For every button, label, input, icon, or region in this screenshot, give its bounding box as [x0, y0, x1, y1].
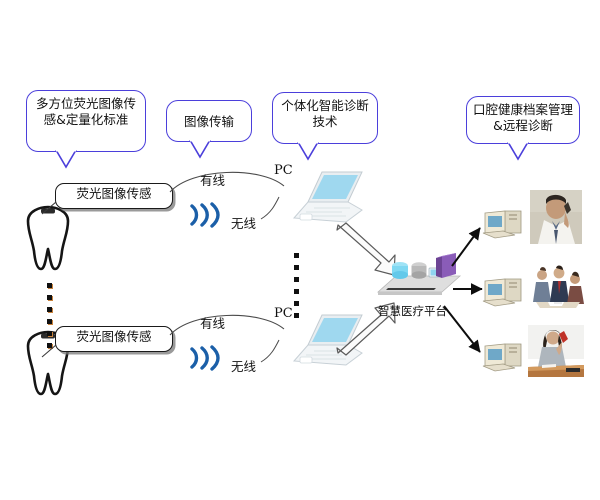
pc-top-label: PC [274, 163, 293, 178]
callout-tail-icon [507, 142, 529, 160]
link-top-wired-label: 有线 [200, 170, 225, 189]
link-top-wired-curve [168, 166, 288, 196]
endpoint-3-desktop-computer-icon[interactable] [481, 340, 525, 376]
diagram-canvas: 多方位荧光图像传感&定量化标准 图像传输 个体化智能诊断技术 口腔健康档案管理&… [0, 0, 600, 500]
endpoint-1-photo-doctor-on-phone [530, 190, 582, 244]
callout-diagnosis: 个体化智能诊断技术 [272, 92, 378, 144]
callout-sensing: 多方位荧光图像传感&定量化标准 [26, 90, 146, 152]
sensor-bottom-label: 荧光图像传感 [76, 329, 151, 344]
tooth-bottom-leader [40, 343, 70, 363]
endpoint-3-photo-operator-on-phone [528, 325, 584, 377]
link-bottom-wired-curve [168, 309, 288, 339]
pc-top-icon[interactable] [292, 166, 368, 228]
callout-sensing-label: 多方位荧光图像传感&定量化标准 [36, 96, 136, 127]
sensor-top-label: 荧光图像传感 [76, 186, 151, 201]
endpoint-2-photo-medical-team-meeting [528, 262, 586, 310]
tooth-top-leader [40, 200, 70, 220]
link-bottom-wireless-curve [215, 338, 285, 368]
endpoint-1-desktop-computer-icon[interactable] [481, 207, 525, 243]
callout-transmission: 图像传输 [166, 100, 252, 142]
link-top-wireless-curve [215, 195, 285, 225]
callout-archive: 口腔健康档案管理&远程诊断 [466, 96, 580, 144]
callout-tail-icon [55, 150, 77, 168]
sensor-bottom[interactable]: 荧光图像传感 [55, 326, 173, 352]
endpoint-2-desktop-computer-icon[interactable] [481, 275, 525, 311]
pc-bottom-label: PC [274, 306, 293, 321]
callout-diagnosis-label: 个体化智能诊断技术 [281, 98, 369, 129]
callout-tail-icon [189, 140, 211, 158]
callout-archive-label: 口腔健康档案管理&远程诊断 [473, 102, 573, 133]
link-bottom-wired-label: 有线 [200, 313, 225, 332]
callout-tail-icon [297, 142, 319, 160]
smart-medical-platform-label: 智慧医疗平台 [378, 303, 447, 319]
sensor-top[interactable]: 荧光图像传感 [55, 183, 173, 209]
callout-transmission-label: 图像传输 [184, 114, 234, 130]
